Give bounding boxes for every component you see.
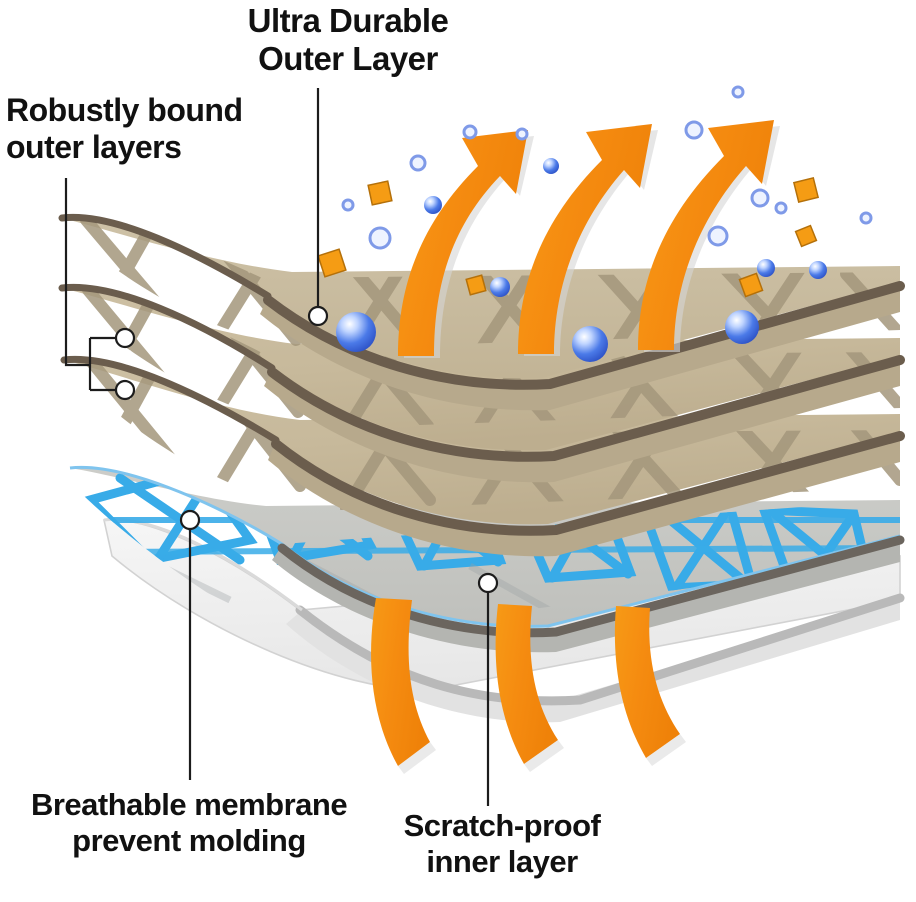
cube <box>796 226 817 247</box>
callout-marker-outer-layer <box>309 307 327 325</box>
label-breathable-membrane: Breathable membrane prevent molding <box>4 787 374 859</box>
cube <box>794 178 818 202</box>
leader-bound-layers <box>66 178 90 365</box>
label-robustly-bound-outer-layers: Robustly bound outer layers <box>6 92 296 166</box>
label-ultra-durable-outer-layer: Ultra Durable Outer Layer <box>198 2 498 79</box>
callout-marker-bound-lower <box>116 381 134 399</box>
cube <box>466 275 486 295</box>
callout-marker-inner-layer <box>479 574 497 592</box>
cube <box>368 181 392 205</box>
callout-marker-bound-upper <box>116 329 134 347</box>
callout-marker-membrane <box>181 511 199 529</box>
label-scratch-proof-inner-layer: Scratch-proof inner layer <box>372 808 632 880</box>
infographic-canvas: Ultra Durable Outer Layer Robustly bound… <box>0 0 916 902</box>
